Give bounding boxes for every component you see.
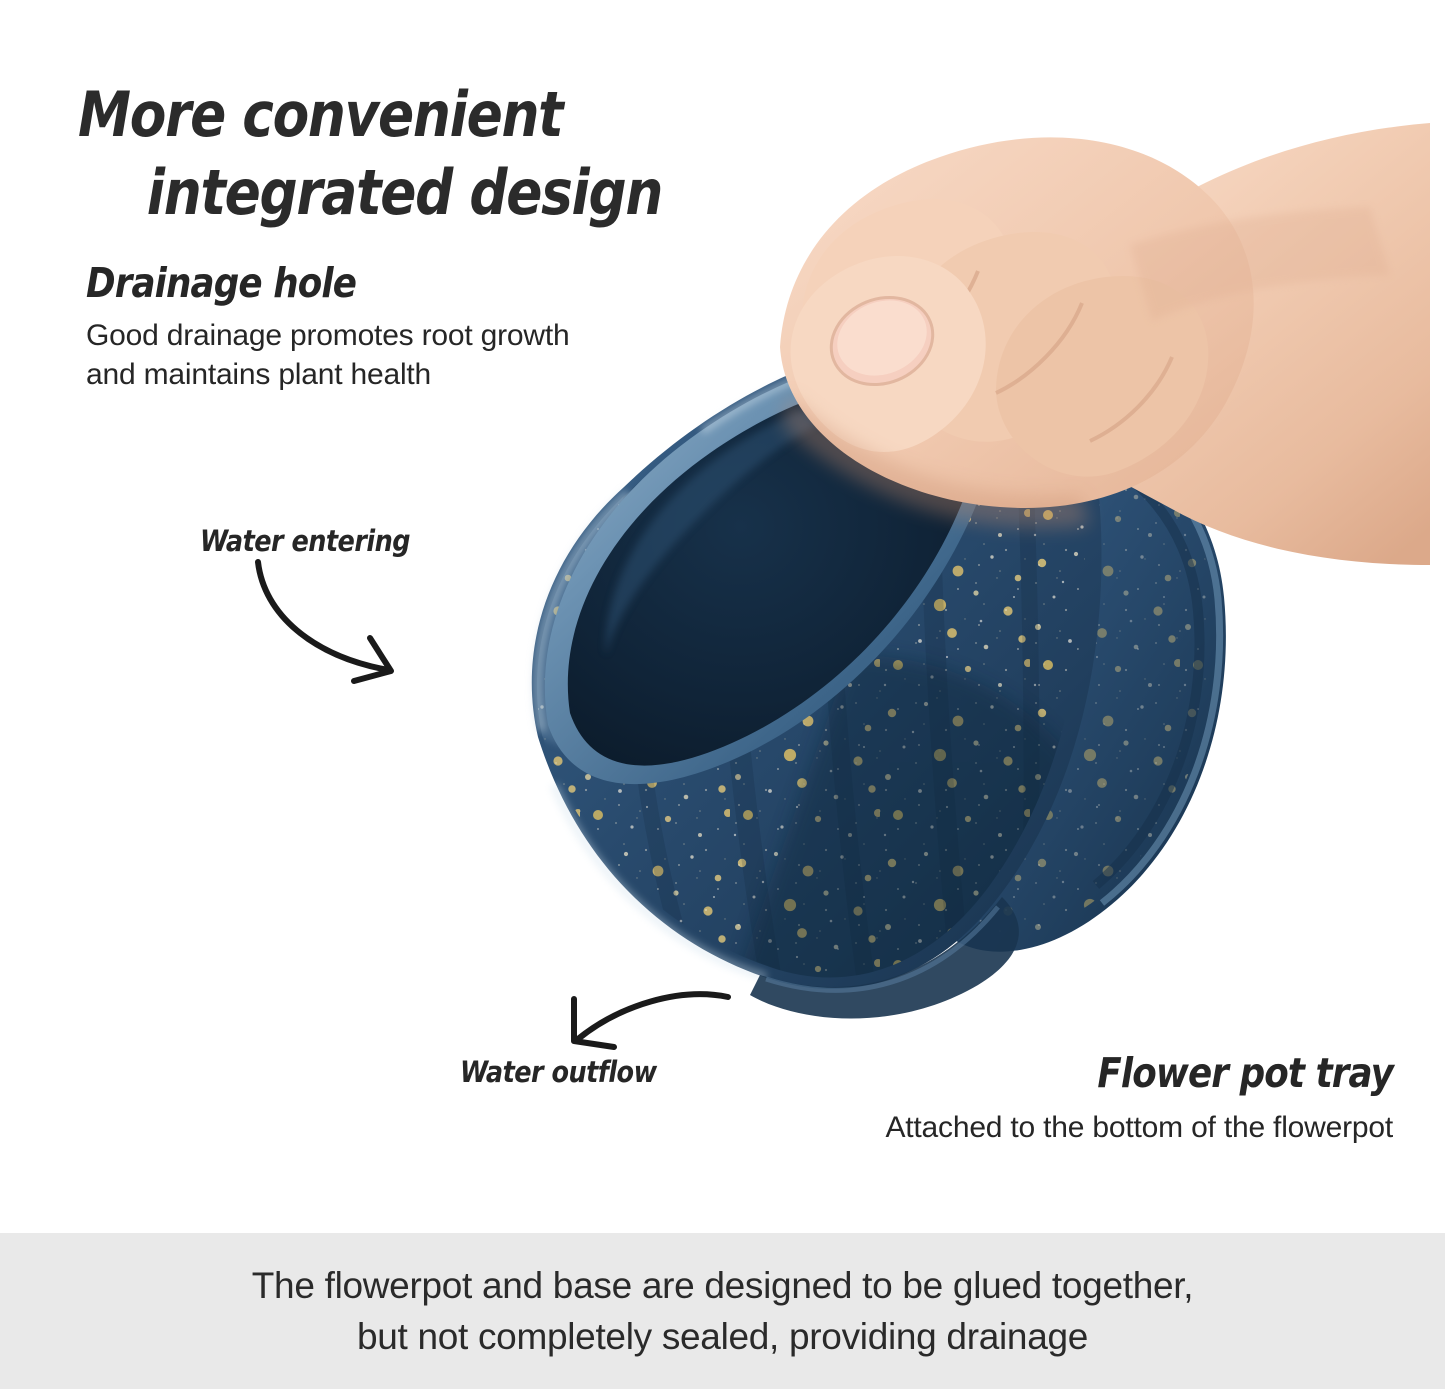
feature-flower-pot-tray: Flower pot tray Attached to the bottom o…: [753, 1048, 1393, 1147]
water-entering-arrow-icon: [230, 552, 410, 687]
bottom-note-banner: The flowerpot and base are designed to b…: [0, 1233, 1445, 1389]
product-photo: [430, 95, 1430, 1055]
infographic-page: More convenient integrated design: [0, 0, 1445, 1389]
feature-drainage-hole-title: Drainage hole: [86, 258, 643, 308]
feature-drainage-hole: Drainage hole Good drainage promotes roo…: [86, 258, 726, 394]
bottom-note-text: The flowerpot and base are designed to b…: [252, 1260, 1194, 1362]
feature-flower-pot-tray-body: Attached to the bottom of the flowerpot: [753, 1108, 1393, 1147]
feature-flower-pot-tray-title: Flower pot tray: [836, 1048, 1393, 1098]
flower-pot-illustration: [430, 95, 1430, 1055]
feature-drainage-hole-body: Good drainage promotes root growth and m…: [86, 316, 726, 394]
annotation-label-water-outflow: Water outflow: [460, 1055, 657, 1089]
annotation-label-water-entering: Water entering: [200, 524, 410, 558]
